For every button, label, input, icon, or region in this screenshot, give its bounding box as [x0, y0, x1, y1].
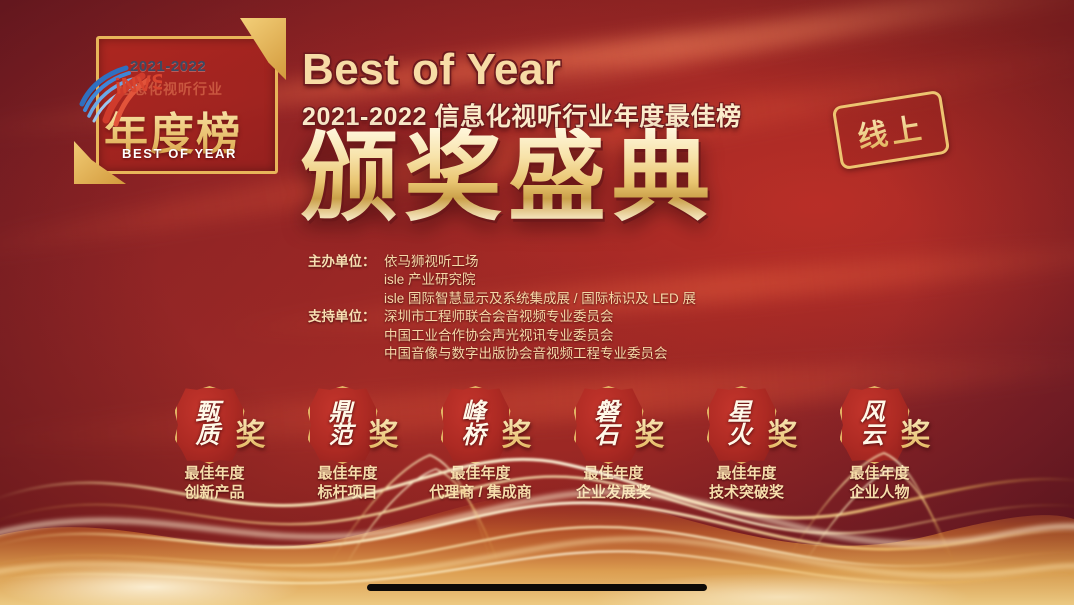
- svg-text:iNVS: iNVS: [114, 69, 162, 99]
- badge-title-english: BEST OF YEAR: [122, 146, 237, 161]
- credit-value: 中国工业合作协会声光视讯专业委员会: [384, 327, 668, 345]
- event-logo-badge: 2021-2022 信息化视听行业 年度榜 BEST OF YEAR iNVS: [78, 28, 280, 176]
- ribbon-swoosh-icon: iNVS: [76, 46, 162, 132]
- wave-svg: [0, 415, 1074, 605]
- headline-english: Best of Year: [302, 48, 742, 92]
- golden-wave-decoration: [0, 415, 1074, 605]
- credit-label: 支持单位：: [308, 308, 384, 363]
- credit-value: 依马狮视听工场: [384, 253, 696, 271]
- grand-title: 颁奖盛典: [300, 128, 716, 226]
- online-stamp-label: 线上: [854, 103, 928, 157]
- credit-label: 主办单位：: [308, 253, 384, 308]
- credit-values: 深圳市工程师联合会音视频专业委员会中国工业合作协会声光视讯专业委员会中国音像与数…: [384, 308, 668, 363]
- online-stamp-badge: 线上: [832, 90, 951, 170]
- credit-value: 中国音像与数字出版协会音视频工程专业委员会: [384, 345, 668, 363]
- home-indicator-bar[interactable]: [367, 584, 707, 591]
- credit-value: isle 国际智慧显示及系统集成展 / 国际标识及 LED 展: [384, 290, 696, 308]
- credit-row: 支持单位：深圳市工程师联合会音视频专业委员会中国工业合作协会声光视讯专业委员会中…: [308, 308, 696, 363]
- credit-row: 主办单位：依马狮视听工场isle 产业研究院isle 国际智慧显示及系统集成展 …: [308, 253, 696, 308]
- headline-block: Best of Year 2021-2022 信息化视听行业年度最佳榜: [302, 48, 742, 133]
- credits-block: 主办单位：依马狮视听工场isle 产业研究院isle 国际智慧显示及系统集成展 …: [308, 253, 696, 363]
- credit-values: 依马狮视听工场isle 产业研究院isle 国际智慧显示及系统集成展 / 国际标…: [384, 253, 696, 308]
- credit-value: isle 产业研究院: [384, 271, 696, 289]
- award-ceremony-poster: 2021-2022 信息化视听行业 年度榜 BEST OF YEAR iNVS …: [0, 0, 1074, 605]
- credit-value: 深圳市工程师联合会音视频专业委员会: [384, 308, 668, 326]
